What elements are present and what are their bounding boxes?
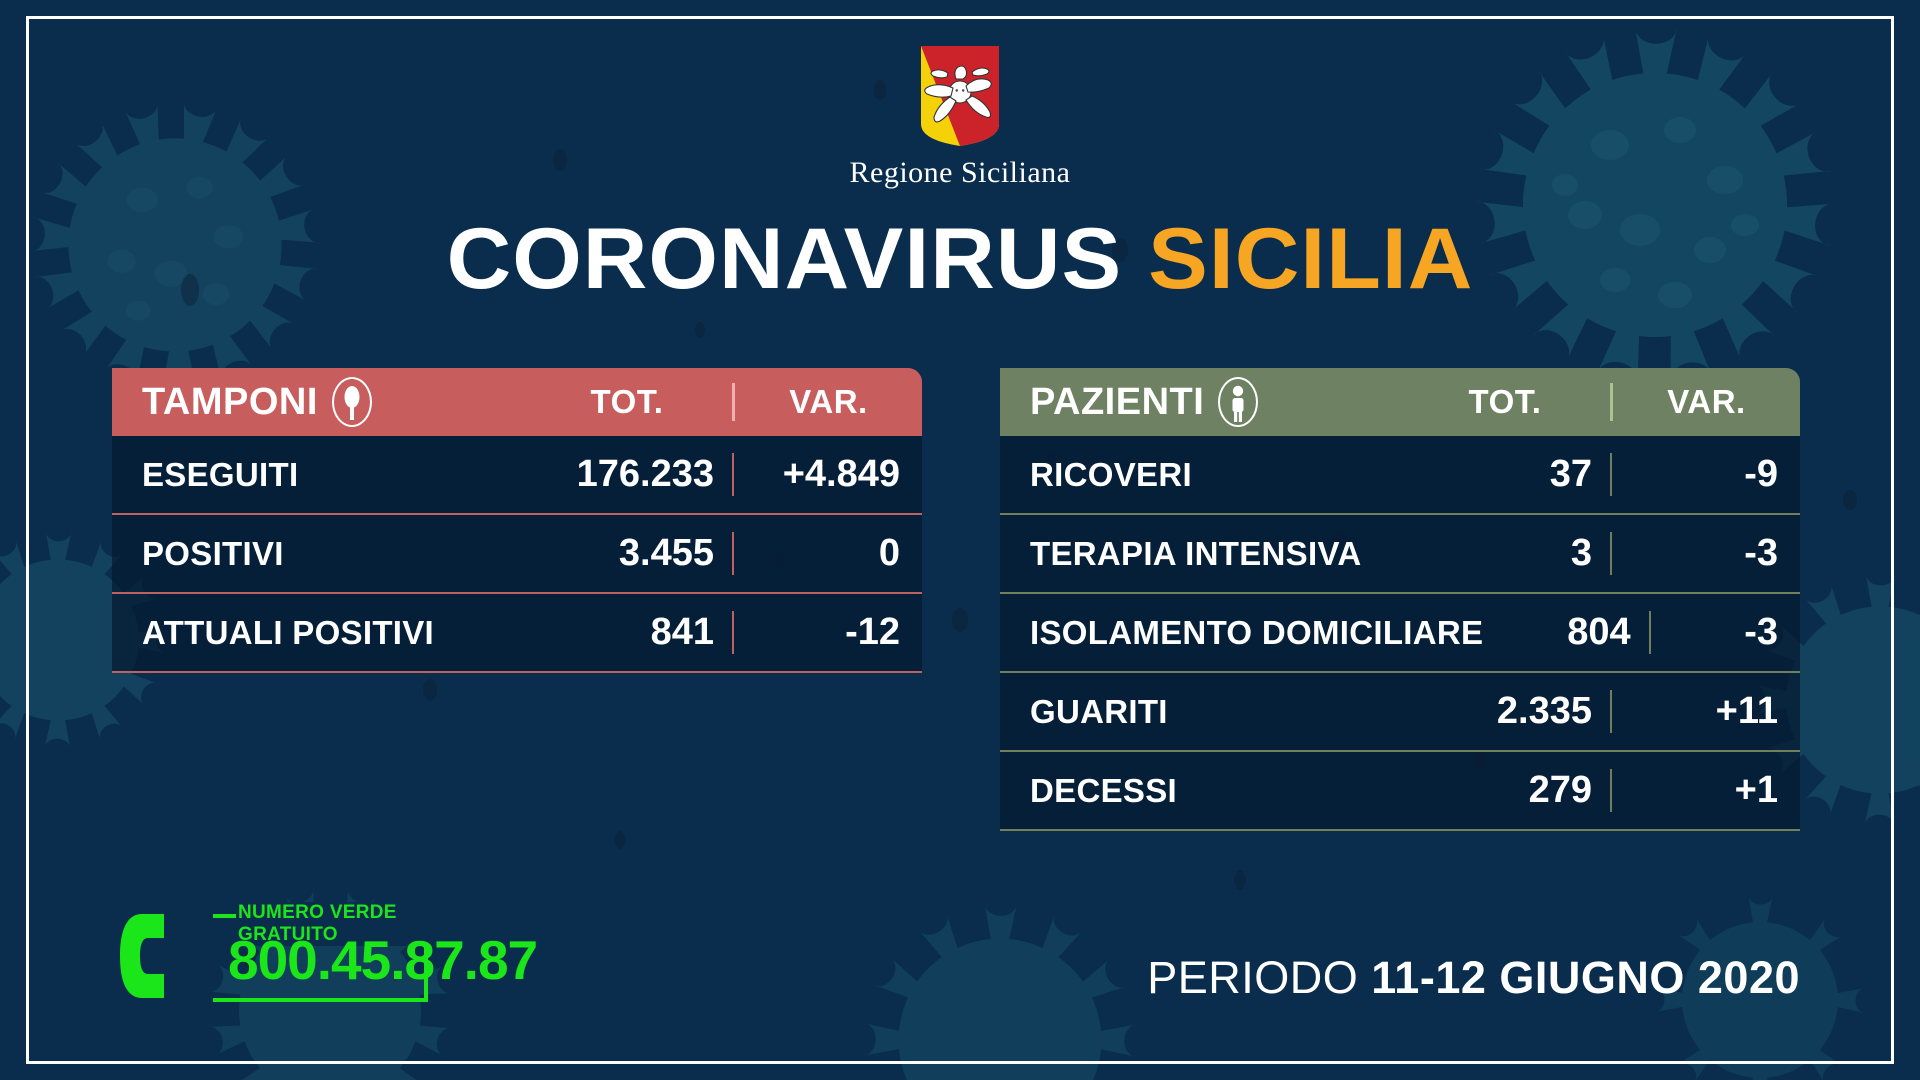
row-variation: +1 [1610,769,1800,812]
row-label: TERAPIA INTENSIVA [1000,535,1400,573]
row-total: 3.455 [522,532,732,575]
row-label: POSITIVI [112,535,522,573]
row-variation: -12 [732,611,922,654]
tamponi-table-header: TAMPONI TOT. VAR. [112,368,922,436]
pazienti-title-label: PAZIENTI [1030,381,1204,424]
tamponi-table: TAMPONI TOT. VAR. ESEGUITI 176.233 +4.84… [112,368,922,673]
tamponi-col-var: VAR. [732,383,922,421]
person-icon [1218,377,1258,427]
row-variation: -9 [1610,453,1800,496]
trinacria-coat-of-arms-icon [919,44,1001,148]
pazienti-col-tot: TOT. [1400,383,1610,421]
row-total: 804 [1483,611,1648,654]
row-variation: +4.849 [732,453,922,496]
row-variation: -3 [1649,611,1800,654]
row-total: 841 [522,611,732,654]
region-name: Regione Siciliana [0,156,1920,190]
helpline-number[interactable]: 800.45.87.87 [228,928,537,992]
tamponi-title-label: TAMPONI [142,381,318,424]
row-total: 2.335 [1400,690,1610,733]
pazienti-title-cell: PAZIENTI [1000,377,1400,427]
helpline-box: NUMERO VERDE GRATUITO 800.45.87.87 [118,900,428,1008]
row-label: ISOLAMENTO DOMICILIARE [1000,614,1483,652]
table-row: GUARITI 2.335 +11 [1000,673,1800,752]
title-primary: CORONAVIRUS [447,211,1123,307]
table-row: TERAPIA INTENSIVA 3 -3 [1000,515,1800,594]
table-row: RICOVERI 37 -9 [1000,436,1800,515]
phone-icon [118,910,170,1002]
row-label: GUARITI [1000,693,1400,731]
period-prefix: PERIODO [1147,952,1358,1003]
pazienti-table-header: PAZIENTI TOT. VAR. [1000,368,1800,436]
pazienti-col-var: VAR. [1610,383,1800,421]
table-row: ATTUALI POSITIVI 841 -12 [112,594,922,673]
page-title: CORONAVIRUS SICILIA [0,216,1920,302]
row-total: 37 [1400,453,1610,496]
swab-icon [332,377,372,427]
row-variation: -3 [1610,532,1800,575]
page-header: Regione Siciliana CORONAVIRUS SICILIA [0,44,1920,302]
table-row: ISOLAMENTO DOMICILIARE 804 -3 [1000,594,1800,673]
row-variation: 0 [732,532,922,575]
row-total: 3 [1400,532,1610,575]
row-label: RICOVERI [1000,456,1400,494]
row-label: ESEGUITI [112,456,522,494]
table-row: ESEGUITI 176.233 +4.849 [112,436,922,515]
virus-graphic [863,903,1138,1080]
period-dates: 11-12 GIUGNO 2020 [1371,952,1800,1003]
tamponi-title-cell: TAMPONI [112,377,522,427]
pazienti-table: PAZIENTI TOT. VAR. RICOVERI 37 -9 [1000,368,1800,831]
infographic-canvas: Regione Siciliana CORONAVIRUS SICILIA TA… [0,0,1920,1080]
row-total: 279 [1400,769,1610,812]
tamponi-col-tot: TOT. [522,383,732,421]
table-row: POSITIVI 3.455 0 [112,515,922,594]
row-label: DECESSI [1000,772,1400,810]
row-label: ATTUALI POSITIVI [112,614,522,652]
period-label: PERIODO 11-12 GIUGNO 2020 [1147,952,1800,1004]
row-total: 176.233 [522,453,732,496]
table-row: DECESSI 279 +1 [1000,752,1800,831]
row-variation: +11 [1610,690,1800,733]
title-accent: SICILIA [1148,211,1473,307]
